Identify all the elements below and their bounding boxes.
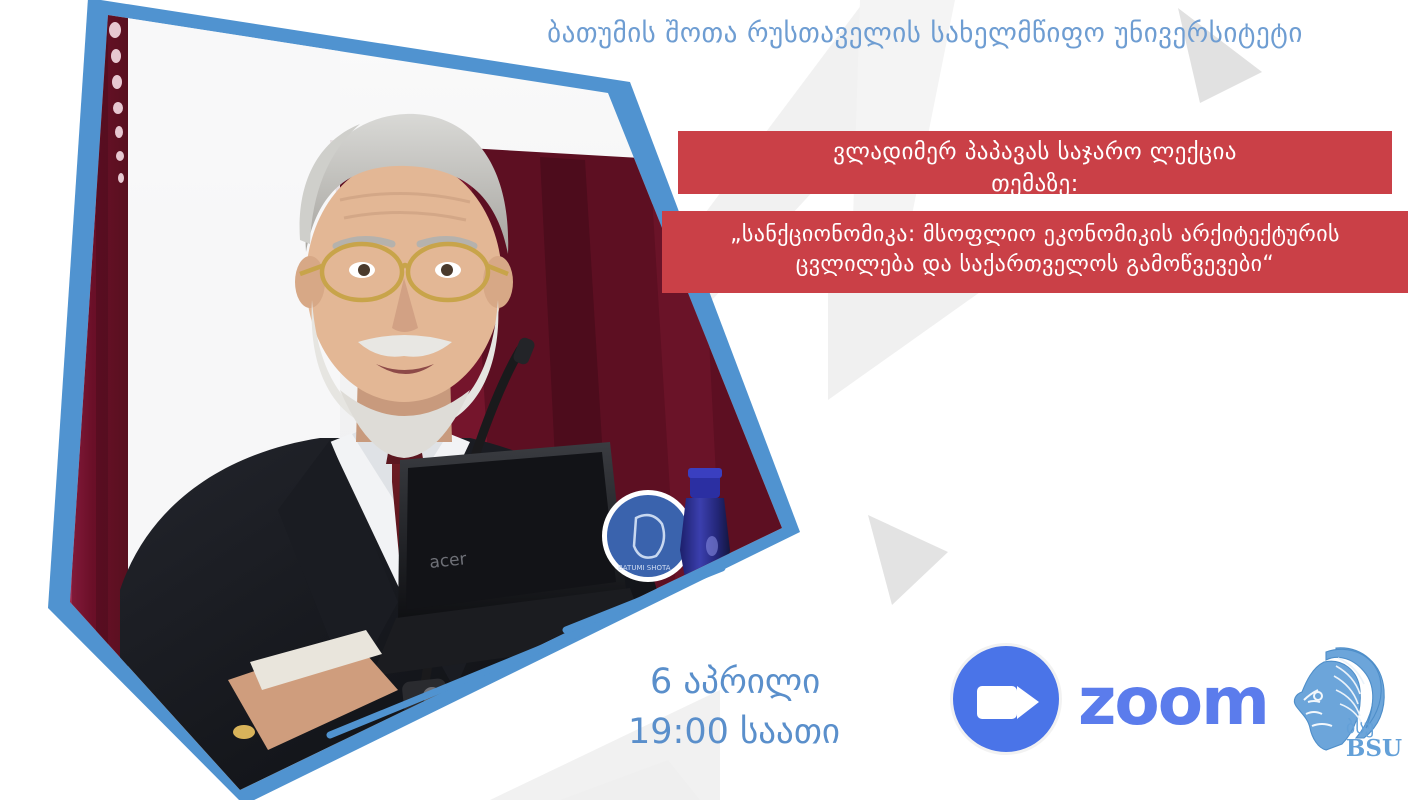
svg-text:acer: acer [428, 549, 467, 573]
laptop: acer [372, 442, 648, 676]
event-time: 19:00 საათი [628, 708, 928, 758]
lecture-heading-banner: ვლადიმერ პაპავას საჯარო ლექცია თემაზე: [678, 131, 1392, 194]
lecture-heading-line2: თემაზე: [678, 169, 1392, 201]
lecture-topic-line1: „სანქციონომიკა: მსოფლიო ეკონომიკის არქიტ… [662, 220, 1408, 250]
page-title: ბათუმის შოთა რუსთაველის სახელმწიფო უნივე… [430, 18, 1420, 49]
poster-canvas: acer BATUMI SHOTA [0, 0, 1422, 800]
lecture-topic-banner: „სანქციონომიკა: მსოფლიო ეკონომიკის არქიტ… [662, 211, 1408, 293]
event-date: 6 აპრილი [628, 658, 928, 708]
podium-emblem: BATUMI SHOTA [602, 490, 694, 582]
bsu-name-en: BSU [1346, 737, 1402, 760]
svg-text:BATUMI SHOTA: BATUMI SHOTA [618, 564, 671, 572]
lecture-heading-line1: ვლადიმერ პაპავას საჯარო ლექცია [678, 137, 1392, 169]
zoom-logo: zoom [950, 641, 1235, 759]
decor-triangle-upper-left [828, 285, 990, 400]
decor-triangle-mid [868, 515, 948, 605]
bsu-logo: ბსუ BSU [1278, 638, 1406, 766]
event-schedule: 6 აპრილი 19:00 საათი [628, 658, 928, 757]
lecture-topic-line2: ცვლილება და საქართველოს გამოწვევები“ [662, 250, 1408, 280]
video-camera-icon [950, 643, 1062, 755]
zoom-wordmark: zoom [1078, 669, 1268, 735]
bsu-wordmark: ბსუ BSU [1346, 719, 1402, 760]
